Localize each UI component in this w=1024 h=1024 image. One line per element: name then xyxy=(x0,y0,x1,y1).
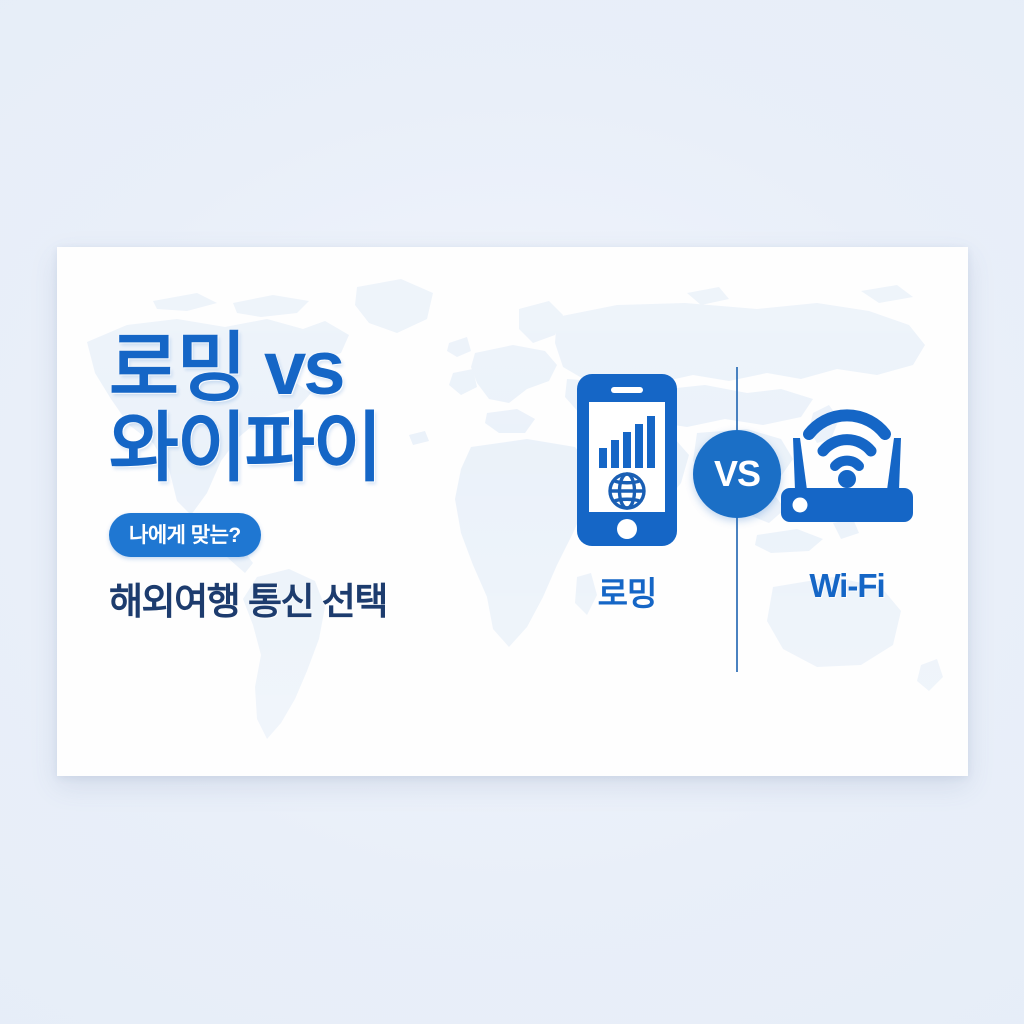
headline-line-2: 와이파이 xyxy=(109,412,529,486)
roaming-label: 로밍 xyxy=(598,567,657,615)
subtitle-text: 해외여행 통신 선택 xyxy=(109,571,529,625)
wifi-icon-stage xyxy=(773,352,921,567)
comparison-side-roaming: 로밍 xyxy=(527,352,727,682)
comparison-divider xyxy=(736,367,738,672)
wifi-router-icon xyxy=(773,394,921,526)
comparison-side-wifi: Wi-Fi xyxy=(747,352,947,682)
comparison-block: 로밍 xyxy=(527,352,947,682)
tagline-badge: 나에게 맞는? xyxy=(109,513,261,557)
headline-block: 로밍 vs 와이파이 나에게 맞는? 해외여행 통신 선택 xyxy=(109,332,529,625)
headline-line-1: 로밍 vs xyxy=(109,332,529,406)
badge-wrap: 나에게 맞는? xyxy=(109,513,529,557)
smartphone-signal-globe-icon xyxy=(575,372,679,548)
vs-circle-label: VS xyxy=(714,456,760,492)
headline-roaming: 로밍 xyxy=(109,326,245,411)
roaming-icon-stage xyxy=(575,352,679,567)
headline-vs: vs xyxy=(264,326,343,411)
wifi-label: Wi-Fi xyxy=(809,567,884,605)
banner-card: 로밍 vs 와이파이 나에게 맞는? 해외여행 통신 선택 xyxy=(57,247,968,776)
vs-circle-badge: VS xyxy=(693,430,781,518)
